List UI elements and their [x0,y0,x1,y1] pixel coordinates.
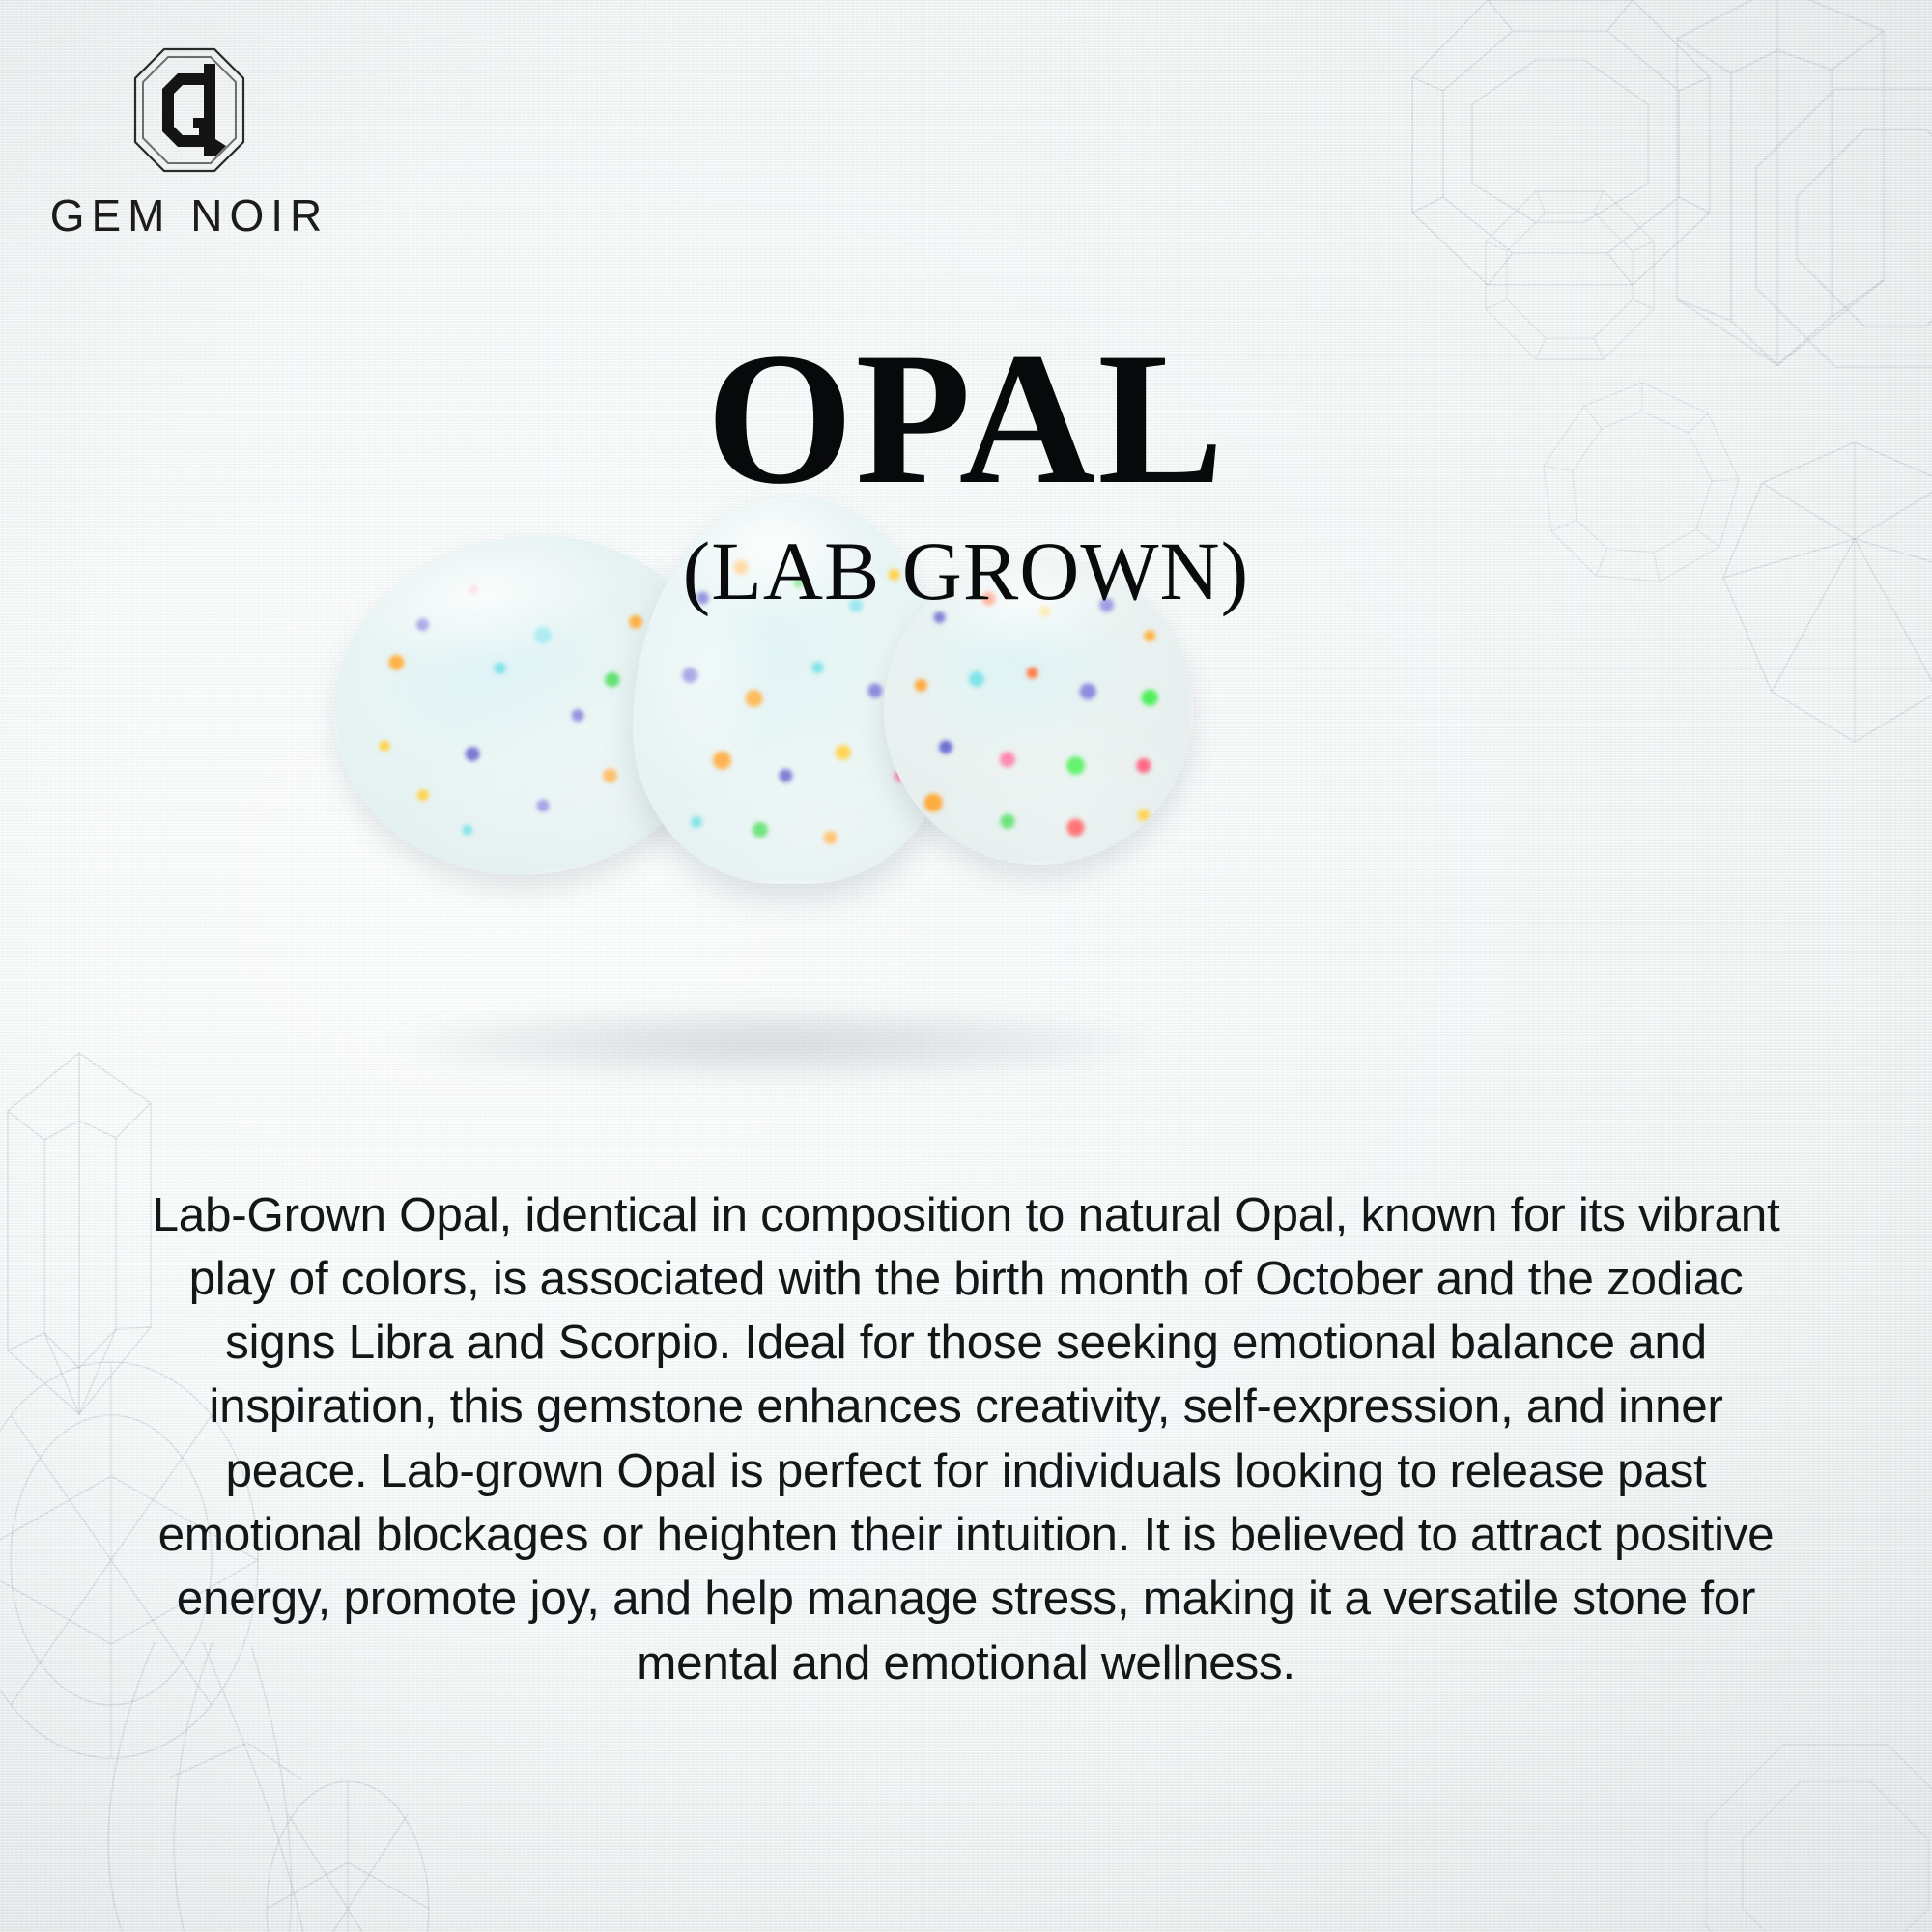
description-paragraph: Lab-Grown Opal, identical in composition… [145,1183,1787,1696]
gemstone-group [0,618,1932,1159]
gemstone-shadow [386,1005,1159,1082]
round-brilliant-gem-outline-icon [1700,1739,1932,1932]
page-title: OPAL [0,328,1932,510]
brand-logo[interactable]: GEM NOIR [25,46,354,241]
page-subtitle: (LAB GROWN) [0,527,1932,614]
emerald-cut-gem-outline-icon [1401,0,1719,309]
brand-wordmark: GEM NOIR [25,189,354,241]
poster-canvas: GEM NOIR OPAL (LAB GROWN) Lab-Grown Opal… [0,0,1932,1932]
octagon-gem-monogram-icon [132,46,246,174]
title-block: OPAL (LAB GROWN) [0,328,1932,614]
